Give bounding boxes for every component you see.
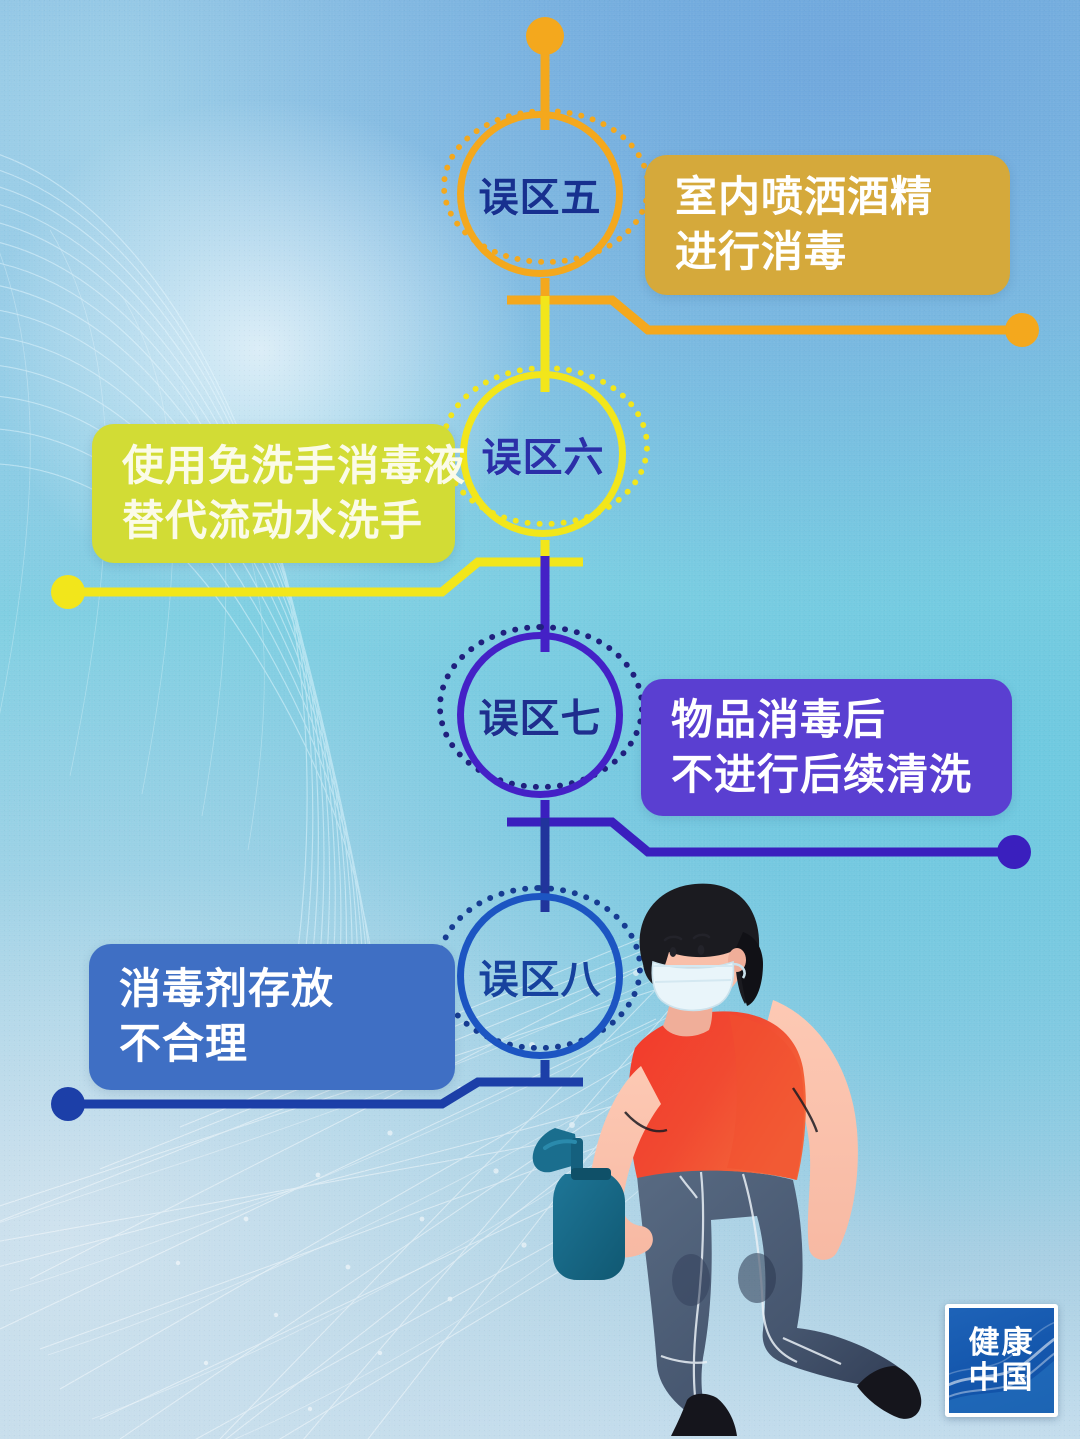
card-line-2: 进行消毒 [675, 225, 980, 280]
logo-line-2: 中国 [969, 1362, 1035, 1395]
card-line-1: 消毒剂存放 [119, 962, 425, 1017]
card-line-2: 不合理 [119, 1017, 425, 1072]
node-label: 误区七 [479, 686, 602, 744]
node-circle-2[interactable]: 误区六 [460, 371, 626, 537]
card-line-1: 室内喷洒酒精 [675, 170, 980, 225]
info-card-1[interactable]: 室内喷洒酒精 进行消毒 [645, 155, 1010, 295]
node-label: 误区六 [482, 425, 605, 483]
node-circle-3[interactable]: 误区七 [457, 632, 623, 798]
info-card-2[interactable]: 使用免洗手消毒液 替代流动水洗手 [92, 424, 455, 563]
poster-canvas: 误区五 误区六 误区七 误区八 室内喷洒酒精 进行消毒 使用免洗手消毒液 替代流… [0, 0, 1080, 1439]
info-card-4[interactable]: 消毒剂存放 不合理 [89, 944, 455, 1090]
card-line-2: 不进行后续清洗 [671, 748, 982, 803]
node-label: 误区五 [479, 165, 602, 223]
card-line-1: 物品消毒后 [671, 693, 982, 748]
logo-line-1: 健康 [969, 1327, 1035, 1360]
logo-healthy-china[interactable]: 健康 中国 [945, 1304, 1058, 1417]
card-line-2: 替代流动水洗手 [122, 494, 425, 549]
info-card-3[interactable]: 物品消毒后 不进行后续清洗 [641, 679, 1012, 816]
card-line-1: 使用免洗手消毒液 [122, 439, 425, 494]
node-circle-1[interactable]: 误区五 [457, 111, 623, 277]
illustration-woman-with-spray-bottle [505, 880, 935, 1439]
